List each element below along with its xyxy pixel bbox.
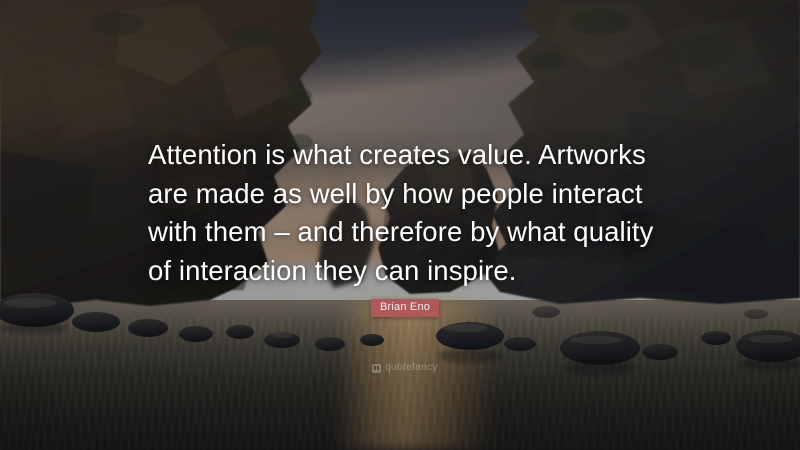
quotefancy-watermark: quotefancy <box>372 362 438 374</box>
watermark-label: quotefancy <box>385 362 438 374</box>
quote-text: Attention is what creates value. Artwork… <box>148 136 658 290</box>
quote-image-card: Attention is what creates value. Artwork… <box>0 0 800 450</box>
author-badge: Brian Eno <box>371 299 439 317</box>
quote-mark-icon <box>372 364 381 373</box>
quote-content: Attention is what creates value. Artwork… <box>0 0 800 450</box>
